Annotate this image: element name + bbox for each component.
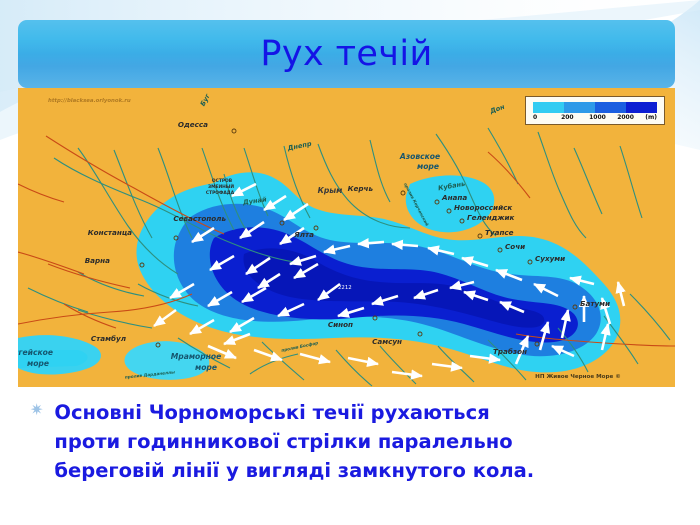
region-labels: Крым <box>318 186 343 195</box>
sea-label: Мраморное <box>171 352 222 361</box>
sea-label: Азовское <box>399 152 440 161</box>
city-label: Керчь <box>348 184 374 193</box>
city-label: Геленджик <box>467 213 516 222</box>
sea-label: Эгейское <box>18 348 53 357</box>
city-label: Сухуми <box>535 254 565 263</box>
legend-tick-0: 0 <box>533 114 561 121</box>
city-label: Батуми <box>580 299 610 308</box>
city-label: Трабзон <box>493 347 527 356</box>
depth-legend: 0 200 1000 2000 (m) <box>525 96 665 125</box>
island-label: ОСТРОВ <box>212 178 233 184</box>
bullet-list: ✷ Основні Чорноморські течії рухаються п… <box>30 398 670 485</box>
city-label: Севастополь <box>173 214 226 223</box>
city-label: Ялта <box>293 230 314 239</box>
bullet-body-text: Основні Чорноморські течії рухаються про… <box>54 398 554 485</box>
region-label: Крым <box>318 186 343 195</box>
page-title: Рух течій <box>18 20 675 88</box>
map-credit: НП Живое Черное Море © <box>535 374 621 380</box>
city-label: Самсун <box>372 337 402 346</box>
legend-swatch-3 <box>626 102 657 113</box>
legend-swatch-1 <box>564 102 595 113</box>
legend-tick-3: 2000 <box>617 114 645 121</box>
sea-label: море <box>27 359 49 368</box>
legend-unit: (m) <box>645 114 657 121</box>
city-label: Сочи <box>505 242 525 251</box>
depth-point-label: 2212 <box>338 285 352 291</box>
legend-tick-1: 200 <box>561 114 589 121</box>
city-label: Варна <box>85 256 110 265</box>
city-label: Анапа <box>441 193 467 202</box>
legend-tick-2: 1000 <box>589 114 617 121</box>
map-watermark-url: http://blacksea.orlyonok.ru <box>48 98 131 104</box>
island-label: СТРОФАДА <box>206 190 235 196</box>
depth-labels: 2212 <box>338 285 352 291</box>
city-label: Синоп <box>328 320 353 329</box>
legend-color-bar <box>533 102 657 113</box>
city-label: Туапсе <box>485 228 514 237</box>
legend-swatch-0 <box>533 102 564 113</box>
bullet-marker: ✷ <box>30 398 43 422</box>
legend-swatch-2 <box>595 102 626 113</box>
city-label: Новороссийск <box>454 203 513 212</box>
black-sea-map: ОдессаКонстанцаВарнаСтамбулСевастопольЯл… <box>18 88 675 387</box>
city-label: Стамбул <box>91 334 127 343</box>
city-label: Одесса <box>178 120 208 129</box>
legend-tick-labels: 0 200 1000 2000 (m) <box>533 114 657 121</box>
sea-label: море <box>195 363 217 372</box>
sea-label: море <box>417 162 439 171</box>
city-label: Констанца <box>88 228 132 237</box>
map-svg: ОдессаКонстанцаВарнаСтамбулСевастопольЯл… <box>18 88 675 387</box>
